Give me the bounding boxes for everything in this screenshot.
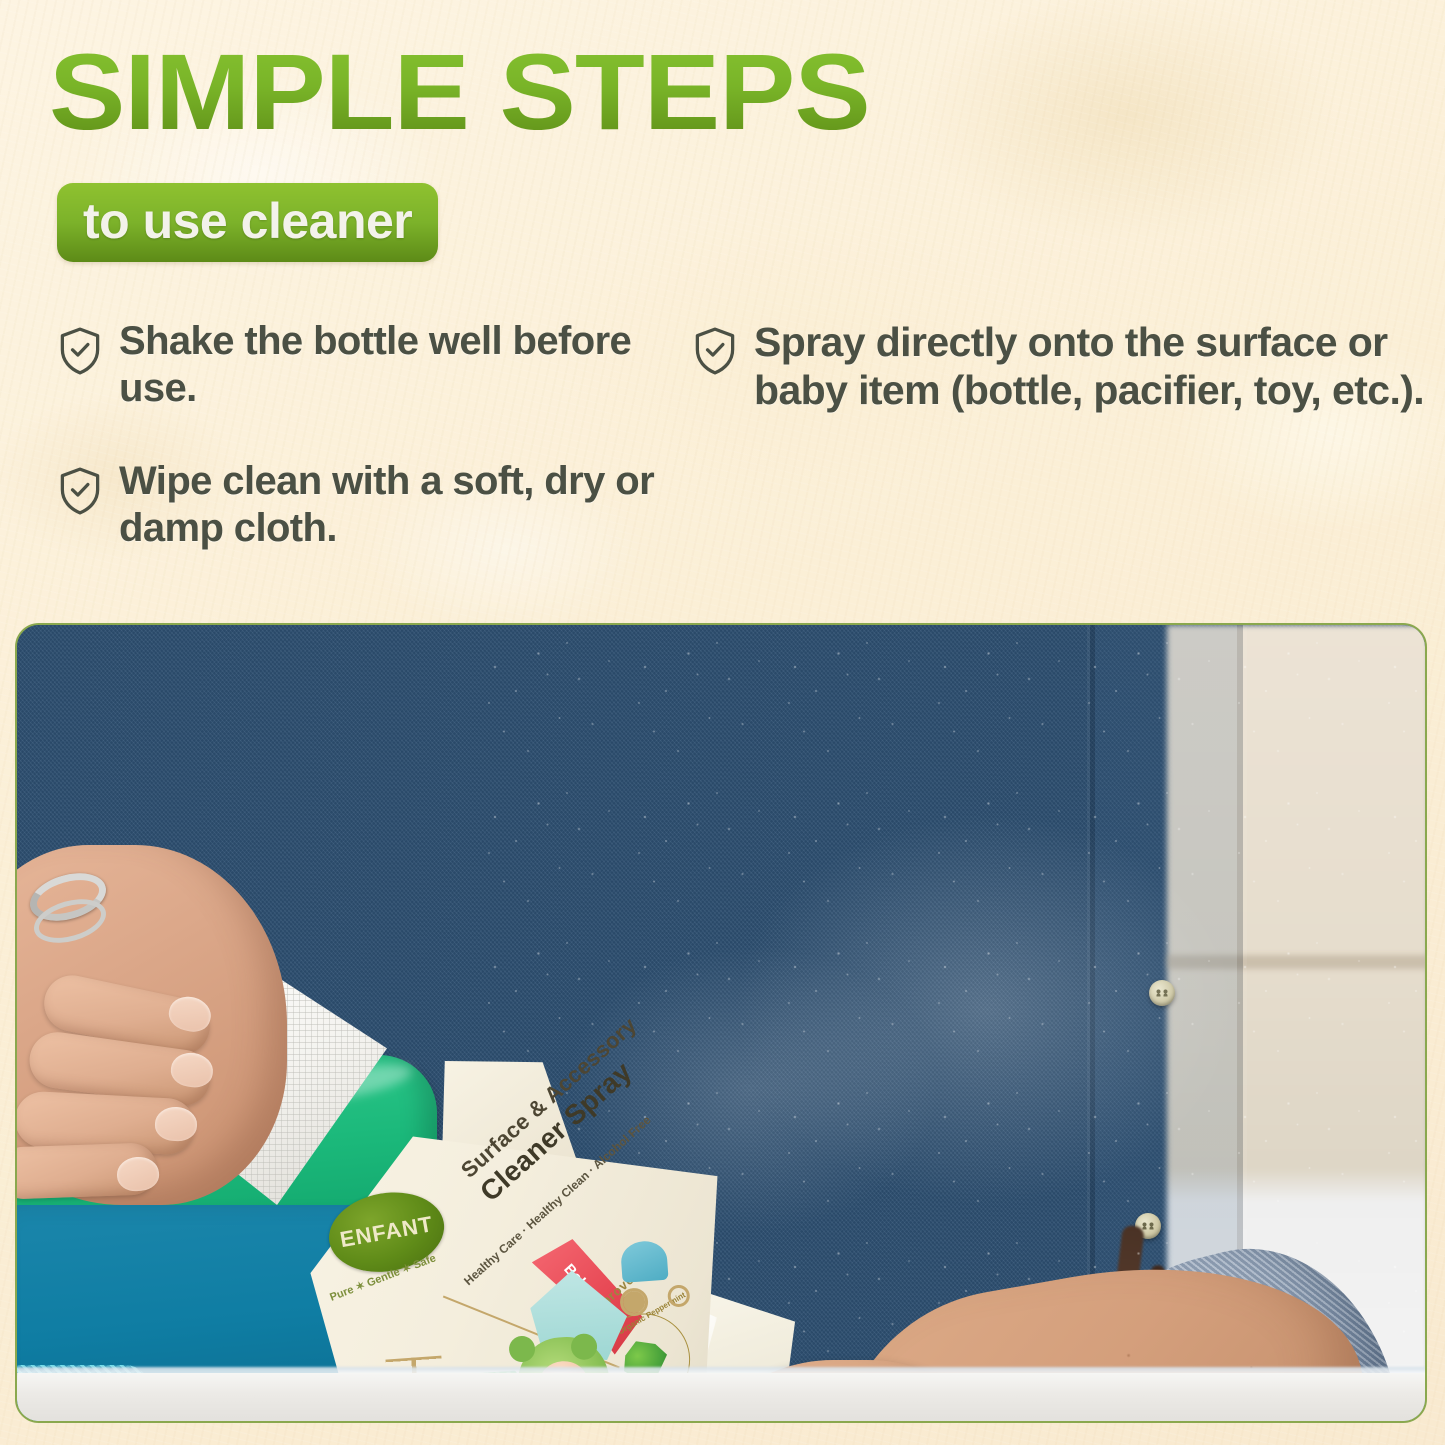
enfant-logo: ENFANT	[323, 1184, 451, 1281]
shield-check-icon	[57, 466, 103, 516]
page-title: SIMPLE STEPS	[49, 38, 870, 146]
step-item-1-label: Shake the bottle well before use.	[119, 318, 657, 412]
stroller-illustration	[612, 1237, 703, 1319]
brand-name: ENFANT	[338, 1211, 435, 1253]
step-item-2: Wipe clean with a soft, dry or damp clot…	[57, 458, 657, 552]
step-item-2-label: Wipe clean with a soft, dry or damp clot…	[119, 458, 657, 552]
shield-check-icon	[692, 326, 738, 376]
subtitle-badge: to use cleaner	[57, 183, 438, 262]
step-item-1: Shake the bottle well before use.	[57, 318, 657, 412]
shield-check-icon	[57, 326, 103, 376]
step-item-3-label: Spray directly onto the surface or baby …	[754, 318, 1432, 415]
product-usage-photo: ENFANT Pure ✶ Gentle ✶ Safe Surface & Ac…	[15, 623, 1427, 1423]
subtitle-badge-label: to use cleaner	[83, 196, 412, 246]
marble-countertop	[17, 1373, 1427, 1423]
step-item-3: Spray directly onto the surface or baby …	[692, 318, 1432, 415]
